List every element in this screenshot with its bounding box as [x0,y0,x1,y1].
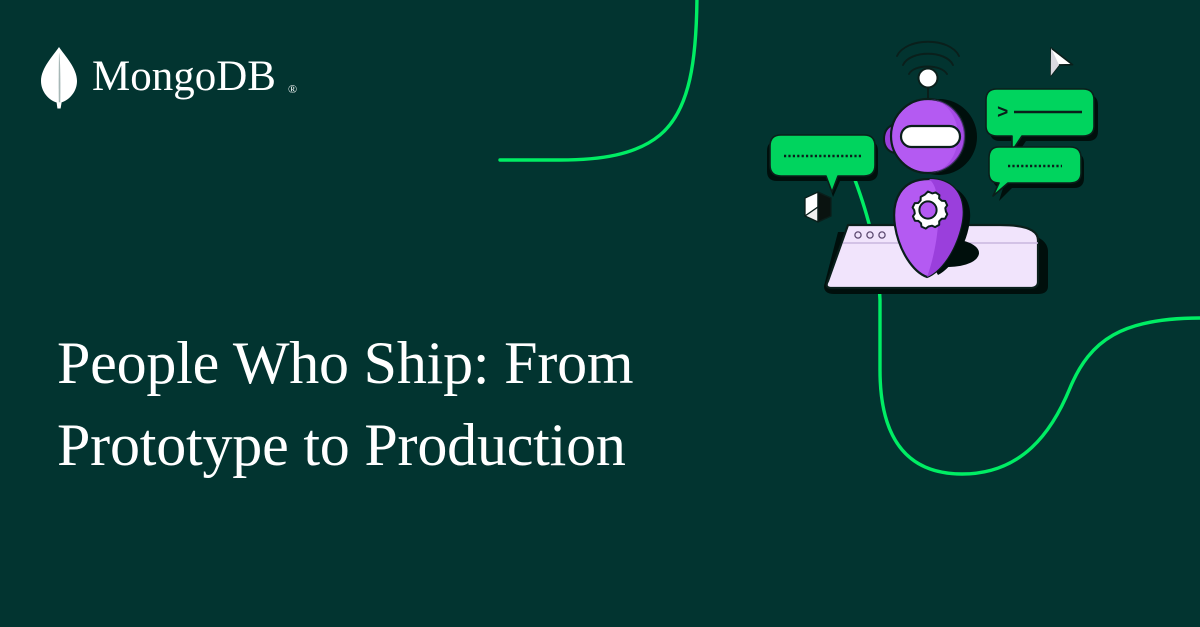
chat-bubble-reply-shadow [993,153,1084,201]
page-title: People Who Ship: From Prototype to Produ… [57,322,757,486]
antenna-bulb [919,69,938,88]
chat-bubble-left-shadow [767,141,878,197]
chat-bubble-reply [989,147,1081,196]
chat-bubble-left [770,135,875,192]
map-pin-shadow-body [926,185,971,275]
svg-text:MongoDB: MongoDB [92,55,276,100]
cube-icon [805,192,831,222]
cursor-arrow-icon [1044,48,1075,80]
browser-window-dots [855,232,885,238]
svg-text:®: ® [288,82,297,96]
gear-icon [913,192,948,229]
social-card: > [0,0,1200,627]
mongodb-leaf-icon [38,47,80,109]
page-title-line-2: Prototype to Production [57,404,757,486]
browser-window-shadow [824,232,1048,294]
robot-visor [901,126,960,147]
brand-wordmark: MongoDB ® [92,55,324,101]
robot-ear [884,124,899,153]
robot-head-shading [928,99,965,173]
brand-logo: MongoDB ® [38,46,324,110]
terminal-prompt-glyph: > [997,102,1008,124]
connector-path-bottom [855,180,1200,474]
robot-head [891,99,965,173]
browser-window-surface [827,225,1038,288]
connector-path-top [500,0,697,160]
map-pin-shadow [919,239,979,267]
page-title-line-1: People Who Ship: From [57,322,757,404]
chat-bubble-prompt [986,89,1094,151]
chat-bubble-prompt-shadow [990,95,1098,156]
robot-head-shadow [901,99,977,175]
map-pin-gear [894,179,963,277]
map-pin-facet [927,179,963,277]
antenna-signal-icon [897,42,959,74]
